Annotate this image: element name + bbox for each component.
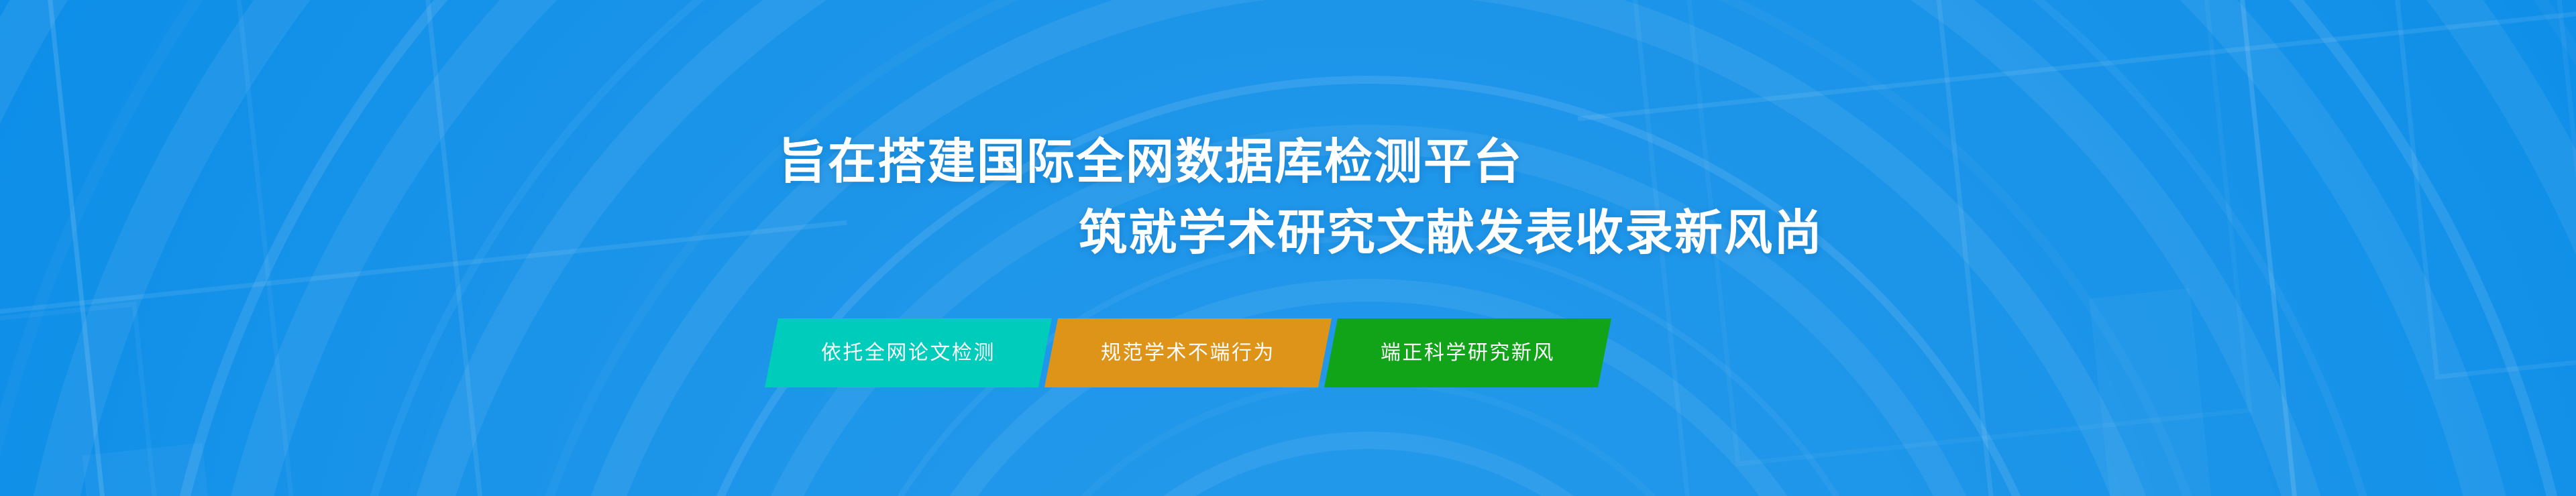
- grid-line-horizontal: [1629, 446, 2576, 496]
- grid-line-vertical: [1864, 0, 2051, 496]
- grid-line-horizontal: [0, 221, 847, 369]
- grid-line-vertical: [2478, 0, 2576, 496]
- feature-tag-2-label: 端正科学研究新风: [1381, 343, 1555, 363]
- grid-line-horizontal: [1578, 0, 2576, 121]
- grid-rect: [0, 302, 200, 496]
- arc-ring: [1009, 432, 1728, 496]
- grid-line-vertical: [182, 0, 370, 496]
- grid-line-vertical: [0, 0, 183, 496]
- feature-tag-band: 依托全网论文检测 规范学术不端行为 端正科学研究新风: [771, 318, 1605, 387]
- promo-banner: 旨在搭建国际全网数据库检测平台 筑就学术研究文献发表收录新风尚 依托全网论文检测…: [0, 0, 2576, 496]
- feature-tag-0[interactable]: 依托全网论文检测: [765, 318, 1052, 387]
- feature-tag-0-label: 依托全网论文检测: [821, 343, 996, 363]
- grid-line-vertical: [370, 0, 557, 496]
- arc-ring: [856, 279, 1881, 496]
- headline-line-2: 筑就学术研究文献发表收录新风尚: [1079, 209, 1823, 257]
- arc-ring: [956, 379, 1781, 496]
- feature-tag-2[interactable]: 端正科学研究新风: [1324, 318, 1611, 387]
- feature-tag-1-label: 规范学术不端行为: [1101, 343, 1275, 363]
- grid-line-vertical: [2164, 0, 2351, 496]
- feature-tag-1[interactable]: 规范学术不端行为: [1044, 318, 1332, 387]
- grid-slab: [2089, 288, 2266, 496]
- grid-slab: [83, 443, 285, 496]
- grid-rect: [2381, 0, 2576, 379]
- headline-line-1: 旨在搭建国际全网数据库检测平台: [778, 138, 1523, 186]
